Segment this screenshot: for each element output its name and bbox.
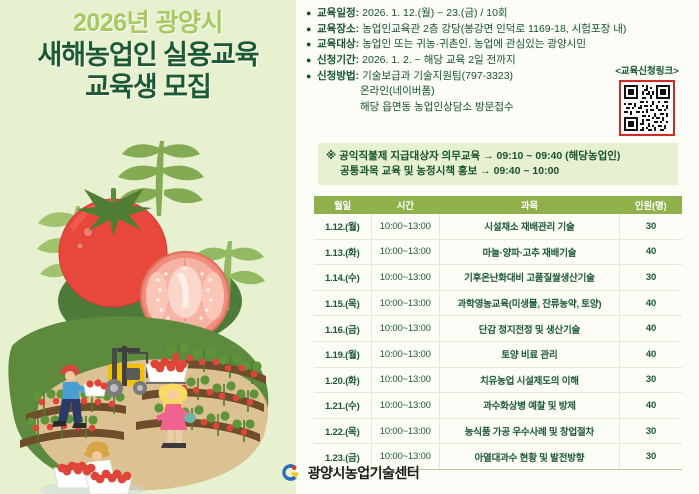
- cell-subject: 토양 비료 관리: [439, 341, 619, 367]
- cell-capacity: 40: [619, 290, 682, 316]
- bullet-dot-icon: ●: [306, 24, 317, 34]
- title-line-recruit: 교육생 모집: [0, 72, 296, 102]
- cell-time: 10:00~13:00: [371, 239, 439, 265]
- table-row: 1.22.(목) 10:00~13:00 농식품 가공 우수사례 및 창업절차 …: [314, 418, 682, 444]
- column-header-time: 시간: [371, 196, 439, 214]
- schedule-table: 월일 시간 과목 인원(명) 1.12.(월) 10:00~13:00 시설채소…: [314, 196, 682, 470]
- table-row: 1.20.(화) 10:00~13:00 치유농업 시설제도의 이해 30: [314, 367, 682, 393]
- column-header-subject: 과목: [439, 196, 619, 214]
- info-label: 교육대상:: [317, 39, 359, 50]
- footer-branding: 광양시농업기술센터: [0, 462, 699, 483]
- cell-capacity: 40: [619, 341, 682, 367]
- poster-left-panel: 2026년 광양시 새해농업인 실용교육 교육생 모집: [0, 0, 296, 494]
- info-label: 교육일정:: [317, 8, 359, 19]
- cell-date: 1.12.(월): [314, 214, 371, 239]
- cell-time: 10:00~13:00: [371, 290, 439, 316]
- cell-subject: 마늘·양파·고추 재배기술: [439, 239, 619, 265]
- cell-subject: 농식품 가공 우수사례 및 창업절차: [439, 418, 619, 444]
- bullet-dot-icon: ●: [306, 55, 317, 65]
- info-value: 농업인 또는 귀농·귀촌인, 농업에 관심있는 광양시민: [362, 39, 586, 50]
- cell-date: 1.14.(수): [314, 265, 371, 291]
- cell-capacity: 30: [619, 265, 682, 291]
- table-header-row: 월일 시간 과목 인원(명): [314, 196, 682, 214]
- cell-subject: 기후온난화대비 고품질쌀생산기술: [439, 265, 619, 291]
- poster-title-block: 2026년 광양시 새해농업인 실용교육 교육생 모집: [0, 0, 296, 102]
- cell-subject: 치유농업 시설제도의 이해: [439, 367, 619, 393]
- qr-link-block[interactable]: <교육신청링크>: [603, 63, 691, 136]
- gwangyang-city-logo-icon: [280, 462, 301, 483]
- info-bullet-item: ● 교육장소: 농업인교육관 2층 강당(봉강면 인덕로 1169-18, 시험…: [306, 24, 698, 35]
- notice-box: ※ 공익직불제 지급대상자 의무교육 → 09:10 ~ 09:40 (해당농업…: [318, 143, 678, 185]
- cell-date: 1.15.(목): [314, 290, 371, 316]
- cell-subject: 과수화상병 예찰 및 방제: [439, 393, 619, 419]
- cell-capacity: 40: [619, 239, 682, 265]
- info-bullet-item: ● 교육일정: 2026. 1. 12.(월) ~ 23.(금) / 10회: [306, 8, 698, 19]
- cell-time: 10:00~13:00: [371, 214, 439, 239]
- poster-root: 2026년 광양시 새해농업인 실용교육 교육생 모집: [0, 0, 699, 494]
- info-label: 신청방법:: [317, 71, 359, 82]
- info-value: 농업인교육관 2층 강당(봉강면 인덕로 1169-18, 시험포장 내): [362, 24, 626, 35]
- info-label: 신청기간:: [317, 55, 359, 66]
- cell-capacity: 40: [619, 393, 682, 419]
- cell-time: 10:00~13:00: [371, 393, 439, 419]
- cell-time: 10:00~13:00: [371, 418, 439, 444]
- title-line-year-city: 2026년 광양시: [0, 9, 296, 37]
- schedule-table-body: 1.12.(월) 10:00~13:00 시설채소 재배관리 기술 30 1.1…: [314, 214, 682, 469]
- qr-code-icon[interactable]: [619, 80, 675, 136]
- cell-date: 1.16.(금): [314, 316, 371, 342]
- table-row: 1.14.(수) 10:00~13:00 기후온난화대비 고품질쌀생산기술 30: [314, 265, 682, 291]
- poster-right-panel: ● 교육일정: 2026. 1. 12.(월) ~ 23.(금) / 10회 ●…: [296, 0, 699, 494]
- info-label: 교육장소:: [317, 24, 359, 35]
- cell-subject: 단감 정지전정 및 생산기술: [439, 316, 619, 342]
- info-bullet-item: ● 교육대상: 농업인 또는 귀농·귀촌인, 농업에 관심있는 광양시민: [306, 39, 698, 50]
- cell-date: 1.19.(월): [314, 341, 371, 367]
- qr-caption: <교육신청링크>: [603, 63, 691, 77]
- table-row: 1.19.(월) 10:00~13:00 토양 비료 관리 40: [314, 341, 682, 367]
- table-row: 1.12.(월) 10:00~13:00 시설채소 재배관리 기술 30: [314, 214, 682, 239]
- cell-time: 10:00~13:00: [371, 341, 439, 367]
- bullet-dot-icon: ●: [306, 71, 317, 81]
- title-line-program: 새해농업인 실용교육: [0, 40, 296, 70]
- footer-org-name: 광양시농업기술센터: [308, 463, 419, 483]
- table-row: 1.15.(목) 10:00~13:00 과학영농교육(미생물, 잔류농약, 토…: [314, 290, 682, 316]
- cell-time: 10:00~13:00: [371, 265, 439, 291]
- cell-date: 1.13.(화): [314, 239, 371, 265]
- bullet-dot-icon: ●: [306, 8, 317, 18]
- table-row: 1.16.(금) 10:00~13:00 단감 정지전정 및 생산기술 40: [314, 316, 682, 342]
- cell-subject: 시설채소 재배관리 기술: [439, 214, 619, 239]
- cell-capacity: 30: [619, 418, 682, 444]
- cell-capacity: 30: [619, 214, 682, 239]
- column-header-capacity: 인원(명): [619, 196, 682, 214]
- notice-line-mandatory: ※ 공익직불제 지급대상자 의무교육 → 09:10 ~ 09:40 (해당농업…: [326, 149, 671, 164]
- cell-subject: 과학영농교육(미생물, 잔류농약, 토양): [439, 290, 619, 316]
- column-header-date: 월일: [314, 196, 371, 214]
- cell-time: 10:00~13:00: [371, 316, 439, 342]
- bullet-dot-icon: ●: [306, 39, 317, 49]
- cell-date: 1.21.(수): [314, 393, 371, 419]
- tomato-farm-illustration: [0, 96, 296, 494]
- table-row: 1.21.(수) 10:00~13:00 과수화상병 예찰 및 방제 40: [314, 393, 682, 419]
- cell-capacity: 30: [619, 367, 682, 393]
- cell-date: 1.20.(화): [314, 367, 371, 393]
- info-value: 기술보급과 기술지원팀(797-3323): [362, 71, 513, 82]
- info-value: 2026. 1. 12.(월) ~ 23.(금) / 10회: [362, 8, 507, 19]
- cell-capacity: 40: [619, 316, 682, 342]
- cell-date: 1.22.(목): [314, 418, 371, 444]
- notice-line-common: 공통과목 교육 및 농정시책 홍보 → 09:40 ~ 10:00: [326, 164, 671, 179]
- cell-time: 10:00~13:00: [371, 367, 439, 393]
- table-row: 1.13.(화) 10:00~13:00 마늘·양파·고추 재배기술 40: [314, 239, 682, 265]
- info-value: 2026. 1. 2. ~ 해당 교육 2일 전까지: [362, 55, 515, 66]
